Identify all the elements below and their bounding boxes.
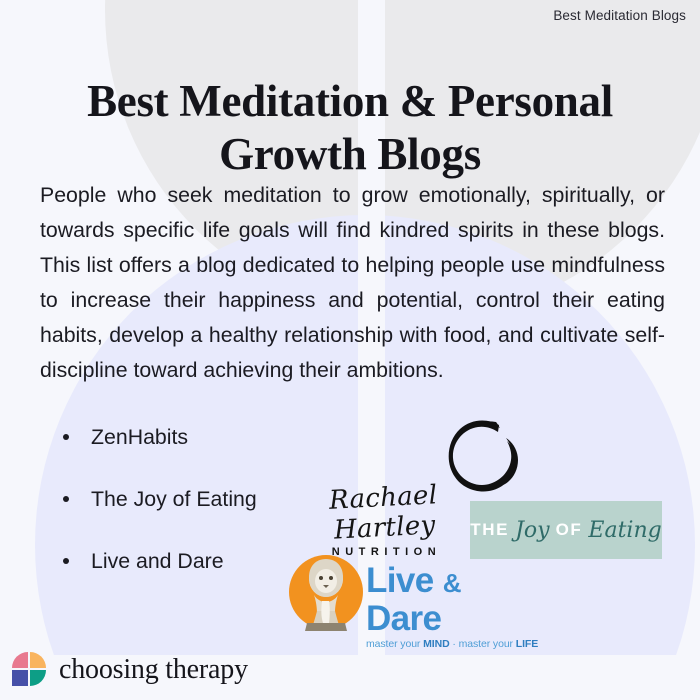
live-and-dare-dare: Dare <box>366 599 441 638</box>
live-and-dare-live: Live <box>366 561 434 600</box>
joy-of-eating-the: THE <box>470 520 509 540</box>
brand-name: choosing therapy <box>59 654 248 686</box>
rachael-hartley-logo: Rachael Hartley NUTRITION <box>298 483 470 545</box>
pinwheel-quadrant-top-right <box>30 652 46 668</box>
page-title: Best Meditation & Personal Growth Blogs <box>40 75 660 181</box>
tagline-mind: MIND <box>423 638 449 650</box>
brand-logo[interactable]: choosing therapy <box>12 652 248 688</box>
live-and-dare-text: Live & Dare master your MIND · master yo… <box>366 563 534 650</box>
pinwheel-quadrant-bottom-right <box>30 670 46 686</box>
pinwheel-quadrant-top-left <box>12 652 28 668</box>
pinwheel-quadrant-bottom-left <box>12 670 28 686</box>
blog-name: The Joy of Eating <box>91 487 257 511</box>
tagline-part-a: master your <box>366 638 423 650</box>
live-and-dare-title: Live & Dare <box>366 563 534 637</box>
tagline-separator: · <box>450 638 459 650</box>
joy-of-eating-joy: Joy <box>515 518 550 543</box>
lion-statue-icon <box>297 557 355 635</box>
list-item[interactable]: ZenHabits <box>58 424 348 486</box>
blog-name: ZenHabits <box>91 425 188 449</box>
live-and-dare-logo: Live & Dare master your MIND · master yo… <box>289 551 534 636</box>
rachael-hartley-script: Rachael Hartley <box>297 479 472 548</box>
choosing-therapy-pinwheel-icon <box>12 652 48 688</box>
body-paragraph: People who seek meditation to grow emoti… <box>40 178 665 388</box>
joy-of-eating-of: OF <box>556 520 583 540</box>
blog-name: Live and Dare <box>91 549 224 573</box>
live-and-dare-tagline: master your MIND · master your LIFE <box>366 638 534 650</box>
slide-canvas: Best Meditation Blogs Best Meditation & … <box>0 0 700 700</box>
page-header-label: Best Meditation Blogs <box>553 8 686 23</box>
tagline-life: LIFE <box>516 638 538 650</box>
joy-of-eating-eating: Eating <box>588 518 661 543</box>
tagline-part-b: master your <box>459 638 516 650</box>
live-and-dare-ampersand: & <box>443 568 461 598</box>
